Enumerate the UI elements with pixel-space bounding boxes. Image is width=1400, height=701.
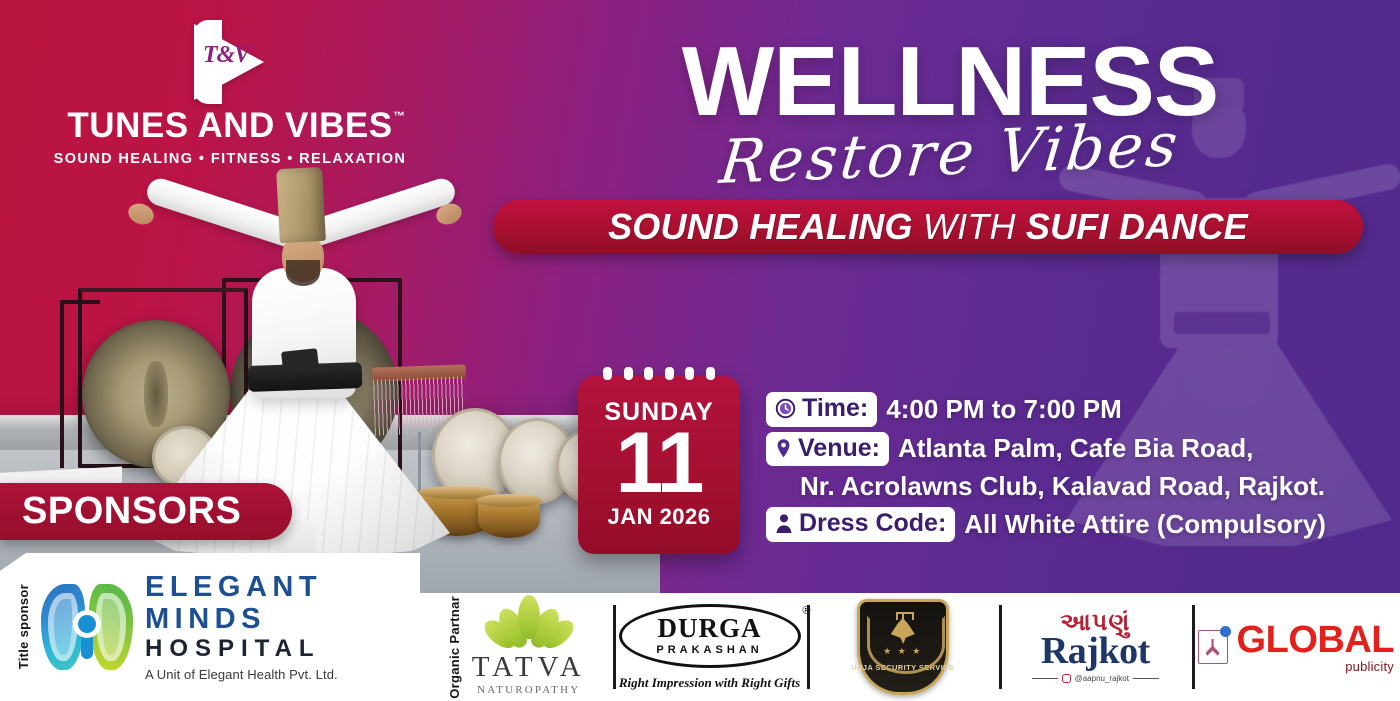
global-sub: publicity <box>1237 660 1394 673</box>
brand-name: TUNES AND VIBES ™ <box>67 108 392 143</box>
person-icon <box>775 513 793 534</box>
page-title: WELLNESS <box>600 36 1300 126</box>
tatva-sub: NATUROPATHY <box>472 684 586 696</box>
time-label-pill: Time: <box>766 392 877 427</box>
dervish-hat <box>276 167 326 243</box>
sponsor-tatva[interactable]: Organic Partnar TATVA NATUROPATHY <box>420 593 613 701</box>
banner-part-2: WITH <box>923 206 1026 247</box>
banner-part-1: SOUND HEALING <box>608 206 923 247</box>
event-details: Time: 4:00 PM to 7:00 PM Venue: Atlanta … <box>766 392 1366 547</box>
sponsor-rajkot[interactable]: આપણું Rajkot @aapnu_rajkot <box>999 593 1192 701</box>
detail-row-time: Time: 4:00 PM to 7:00 PM <box>766 392 1366 427</box>
dresscode-label-pill: Dress Code: <box>766 507 955 542</box>
trademark-symbol: ™ <box>393 110 406 122</box>
venue-value-line2: Nr. Acrolawns Club, Kalavad Road, Rajkot… <box>800 471 1366 502</box>
date-month-year: JAN 2026 <box>607 506 710 528</box>
time-label: Time: <box>802 394 868 424</box>
durga-sub: PRAKASHAN <box>656 644 762 656</box>
subtitle-banner: SOUND HEALING WITH SUFI DANCE <box>493 200 1363 254</box>
event-poster: T&V TUNES AND VIBES ™ SOUND HEALING • FI… <box>0 0 1400 701</box>
detail-row-dresscode: Dress Code: All White Attire (Compulsory… <box>766 507 1366 542</box>
elegant-line-2: MINDS <box>145 605 338 634</box>
sponsors-badge: SPONSORS <box>0 483 292 540</box>
logo-monogram: T&V <box>202 42 250 69</box>
brand-name-text: TUNES AND VIBES <box>67 106 392 145</box>
singing-bowl <box>478 500 540 538</box>
sponsor-global[interactable]: GLOBAL publicity <box>1192 593 1400 701</box>
brand-logo[interactable]: T&V TUNES AND VIBES ™ SOUND HEALING • FI… <box>40 22 420 167</box>
global-publicity-icon <box>1198 630 1228 664</box>
sponsor-bar: Organic Partnar TATVA NATUROPATHY DURGA … <box>420 593 1400 701</box>
durga-name: DURGA <box>658 615 762 642</box>
play-triangle-icon: T&V <box>188 22 272 100</box>
rajkot-icon: આપણું Rajkot @aapnu_rajkot <box>1032 611 1159 683</box>
calendar-rings-icon <box>578 367 740 380</box>
elegant-line-1: ELEGANT <box>145 573 338 602</box>
durga-tagline: Right Impression with Right Gifts <box>619 675 801 691</box>
venue-value: Atlanta Palm, Cafe Bia Road, <box>898 433 1253 464</box>
elegant-line-3: HOSPITAL <box>145 637 338 661</box>
organic-partner-vertical-label: Organic Partnar <box>447 596 462 699</box>
time-value: 4:00 PM to 7:00 PM <box>886 394 1122 425</box>
date-badge: SUNDAY 11 JAN 2026 <box>578 376 740 554</box>
elegant-minds-wordmark: ELEGANT MINDS HOSPITAL A Unit of Elegant… <box>145 573 338 681</box>
banner-part-3: SUFI DANCE <box>1026 206 1248 247</box>
sponsor-urja[interactable]: ★ ★ ★ URJA SECURITY SERVICE <box>807 593 1000 701</box>
sponsor-durga[interactable]: DURGA PRAKASHAN ® Right Impression with … <box>613 593 807 701</box>
dresscode-label: Dress Code: <box>799 509 946 539</box>
dancer-sash-knot <box>281 348 319 372</box>
detail-row-venue: Venue: Atlanta Palm, Cafe Bia Road, <box>766 432 1366 467</box>
title-sponsor-vertical-label: Title sponsor <box>16 584 31 669</box>
headline-block: WELLNESS Restore Vibes SOUND HEALING WIT… <box>600 36 1300 254</box>
ghost-sash <box>1174 312 1270 334</box>
venue-label-pill: Venue: <box>766 432 889 467</box>
instagram-handle: @aapnu_rajkot <box>1032 674 1159 683</box>
location-pin-icon <box>775 438 792 459</box>
venue-label: Venue: <box>798 434 880 464</box>
date-day: 11 <box>616 423 703 504</box>
rajkot-name: Rajkot <box>1032 632 1159 670</box>
dancer-hand-left <box>125 200 156 228</box>
elegant-line-4: A Unit of Elegant Health Pvt. Ltd. <box>145 668 338 681</box>
lotus-icon <box>491 597 567 651</box>
shield-crest-icon: ★ ★ ★ URJA SECURITY SERVICE <box>857 599 949 695</box>
dresscode-value: All White Attire (Compulsory) <box>964 509 1326 540</box>
instagram-handle-text: @aapnu_rajkot <box>1075 675 1129 683</box>
oval-badge-icon: DURGA PRAKASHAN ® <box>619 604 801 668</box>
sponsors-badge-label: SPONSORS <box>22 490 241 533</box>
dancer-beard <box>286 260 320 286</box>
global-name: GLOBAL <box>1237 621 1394 659</box>
clock-icon <box>775 398 796 419</box>
brain-icon <box>41 581 133 673</box>
title-sponsor-panel[interactable]: Title sponsor ELEGANT MINDS HOSPITAL A U… <box>0 553 420 701</box>
instagram-icon <box>1062 674 1071 683</box>
brand-tagline: SOUND HEALING • FITNESS • RELAXATION <box>40 151 420 167</box>
tatva-name: TATVA <box>472 653 586 682</box>
